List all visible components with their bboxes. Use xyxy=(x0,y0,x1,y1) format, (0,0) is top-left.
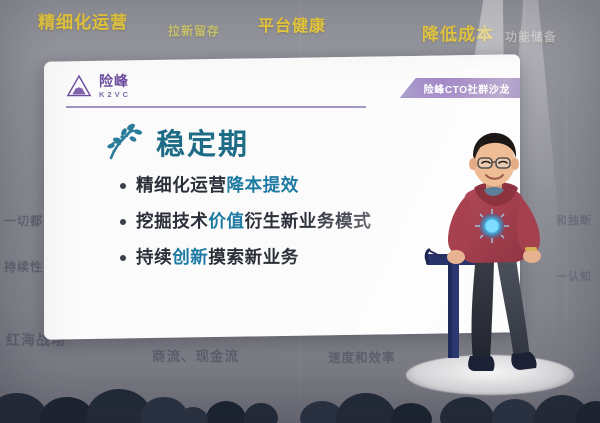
screenshot-stage: 精细化运营 拉新留存 平台健康 降低成本 功能储备 一切都 持续性 红海战场 和… xyxy=(0,0,600,423)
bullet-2-lead: 挖掘技术 xyxy=(136,211,208,231)
backdrop-word-side-3: 和独断 xyxy=(556,212,592,228)
slide-bullet-list: 精细化运营降本提效 挖掘技术价值衍生新业务模式 持续创新摸索新业务 xyxy=(120,174,371,281)
mountain-triangle-logo-icon xyxy=(66,74,92,98)
backdrop-word-acquisition: 拉新留存 xyxy=(168,22,220,39)
bullet-2-highlight: 价值 xyxy=(208,211,244,231)
bullet-dot-icon xyxy=(120,255,126,261)
bullet-item-3: 持续创新摸索新业务 xyxy=(120,246,371,269)
bullet-1-highlight: 降本提效 xyxy=(227,175,299,195)
bullet-3-highlight: 创新 xyxy=(172,247,208,267)
slide-title: 稳定期 xyxy=(156,121,249,163)
bullet-dot-icon xyxy=(120,183,126,189)
brand-name-en: K2VC xyxy=(99,91,131,99)
bullet-dot-icon xyxy=(120,219,126,225)
slide-header-divider xyxy=(66,106,366,108)
bullet-1-lead: 精细化运营 xyxy=(136,175,227,195)
speaker-avatar xyxy=(430,122,560,384)
bullet-3-tail: 摸索新业务 xyxy=(208,247,299,267)
bullet-item-1: 精细化运营降本提效 xyxy=(120,174,371,197)
bullet-2-tail: 衍生新业务模式 xyxy=(245,211,372,231)
bullet-item-2: 挖掘技术价值衍生新业务模式 xyxy=(120,210,371,233)
backdrop-word-side-1: 一切都 xyxy=(4,212,43,229)
event-ribbon-label: 险峰CTO社群沙龙 xyxy=(424,81,510,96)
backdrop-word-refined-ops: 精细化运营 xyxy=(38,8,128,33)
backdrop-word-side-2: 持续性 xyxy=(4,258,43,275)
event-ribbon: 险峰CTO社群沙龙 xyxy=(400,78,520,98)
slide-title-row: 稳定期 xyxy=(102,120,249,164)
backdrop-word-platform-health: 平台健康 xyxy=(258,12,326,36)
bullet-3-lead: 持续 xyxy=(136,247,172,267)
growing-tree-icon xyxy=(102,120,146,164)
backdrop-word-cashflow: 商流、现金流 xyxy=(152,345,239,365)
brand-name-cn: 险峰 xyxy=(99,74,131,88)
slide-brand-header: 险峰 K2VC xyxy=(66,74,131,99)
backdrop-word-speed-efficiency: 速度和效率 xyxy=(328,347,396,366)
